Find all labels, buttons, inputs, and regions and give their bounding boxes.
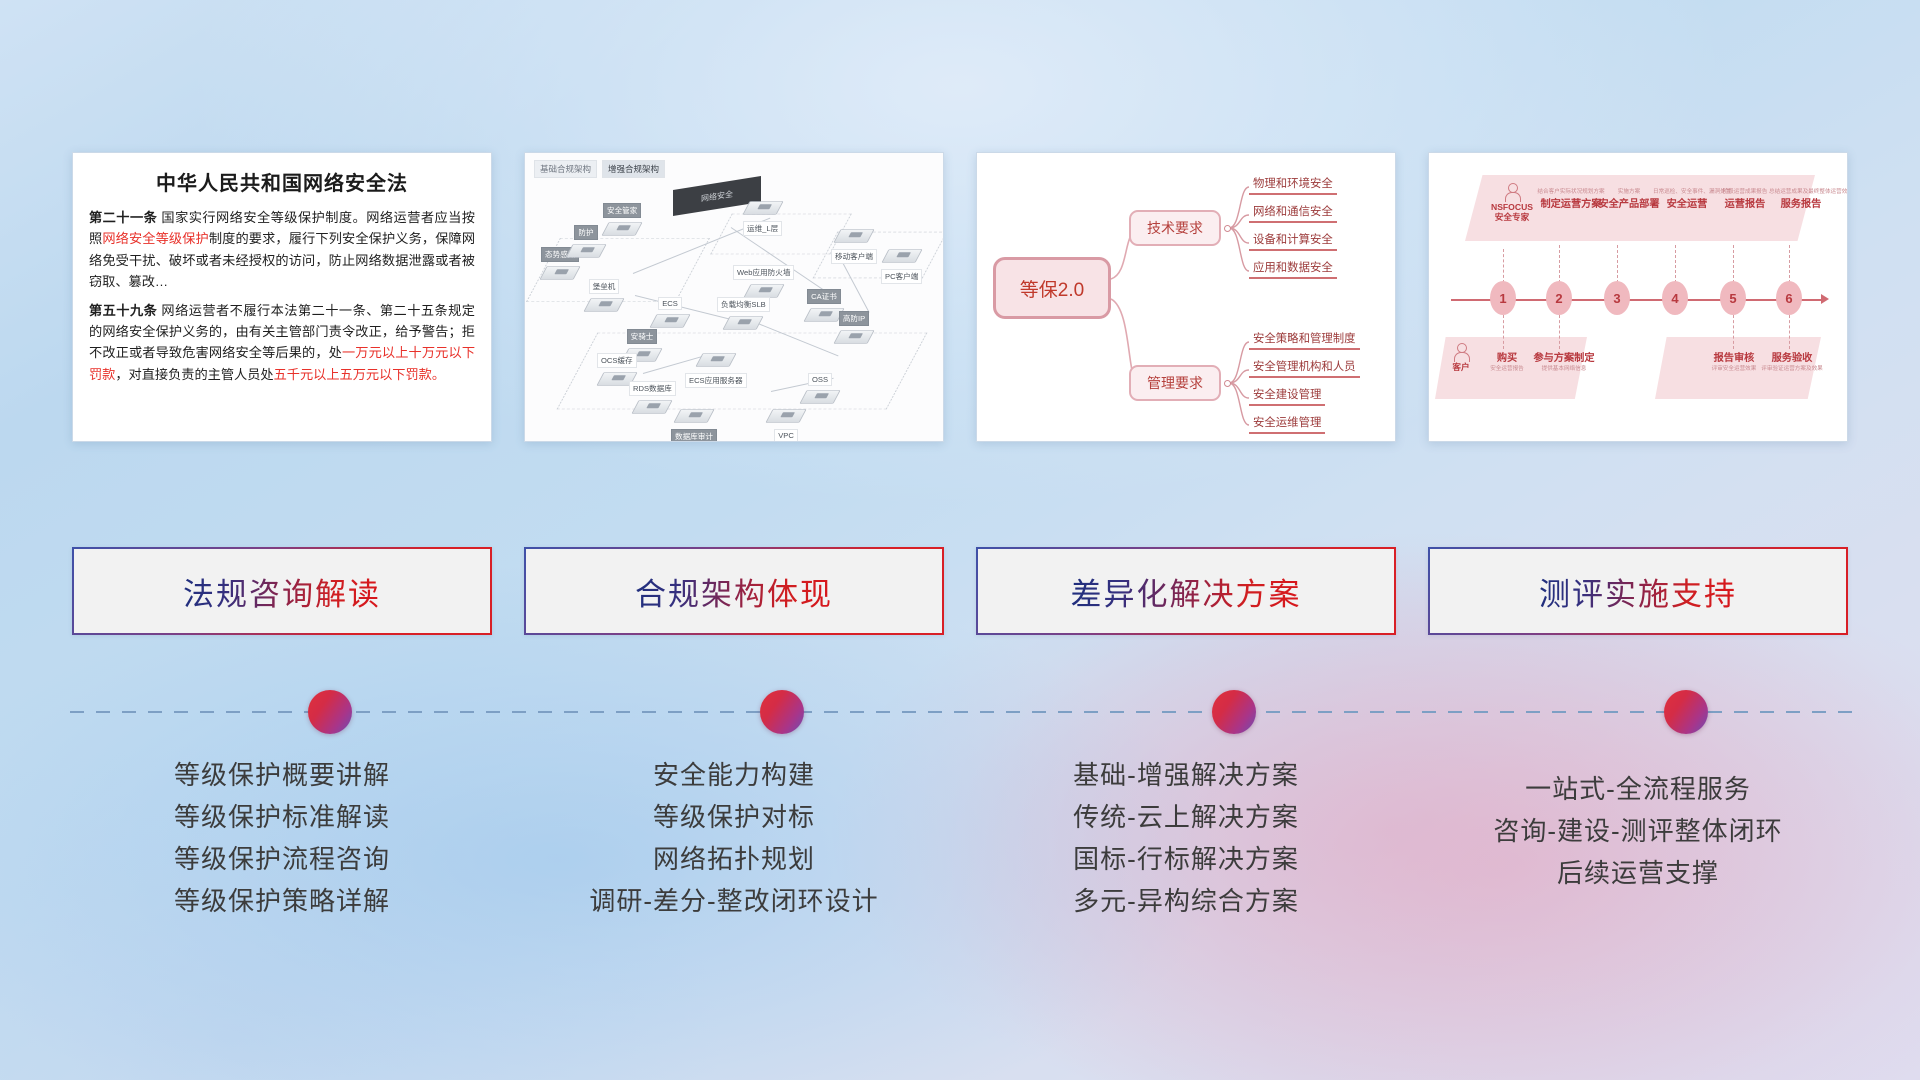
architecture-node-label: ECS (658, 297, 682, 310)
mindmap-collapse-icon-management[interactable] (1224, 380, 1231, 387)
step-subtitle: 评审安全运营效果 (1701, 364, 1767, 372)
customer-name: 客户 (1439, 363, 1483, 373)
architecture-node-label: 安全管家 (603, 203, 641, 218)
detail-column-1: 等级保护概要讲解 等级保护标准解读 等级保护流程咨询 等级保护策略详解 (72, 742, 492, 992)
timeline-connector (70, 690, 1856, 734)
architecture-tab-basic[interactable]: 基础合规架构 (534, 160, 597, 178)
architecture-node-label: Web应用防火墙 (733, 265, 794, 280)
provider-name-line2: 安全专家 (1479, 213, 1545, 223)
list-item: 安全能力构建 (653, 754, 815, 796)
server-icon (583, 298, 624, 312)
list-item: 一站式-全流程服务 (1525, 768, 1751, 810)
pillar-label: 法规咨询解读 (183, 569, 381, 614)
server-icon (540, 266, 581, 280)
architecture-node-label: 移动客户端 (831, 249, 877, 264)
architecture-node-vpc[interactable]: VPC (769, 405, 803, 442)
pillar-box-evaluation-support[interactable]: 测评实施支持 (1428, 547, 1848, 635)
architecture-node-pc-client[interactable]: PC客户端 (881, 245, 922, 284)
card-architecture-diagram[interactable]: 基础合规架构 增强合规架构 网络安全 态势感知 防护 安全管家 运维_ (524, 152, 944, 442)
detail-columns-row: 等级保护概要讲解 等级保护标准解读 等级保护流程咨询 等级保护策略详解 安全能力… (72, 742, 1854, 992)
timeline-dot-1[interactable] (308, 690, 352, 734)
card-law-document[interactable]: 中华人民共和国网络安全法 第二十一条 国家实行网络安全等级保护制度。网络运营者应… (72, 152, 492, 442)
timeline-step-node-1[interactable]: 1 (1490, 281, 1516, 315)
architecture-node-label: VPC (774, 429, 798, 442)
timeline-customer-step-4: 服务验收 评审验证运营方案及效果 (1759, 349, 1825, 372)
step-title: 报告审核 (1701, 349, 1767, 364)
timeline-dot-2[interactable] (760, 690, 804, 734)
architecture-node-bastion-host[interactable]: 堡垒机 (587, 277, 621, 316)
step-title: 服务验收 (1759, 349, 1825, 364)
architecture-node-ca-certificate[interactable]: CA证书 (807, 287, 841, 326)
timeline-customer-step-3: 报告审核 评审安全运营效果 (1701, 349, 1767, 372)
architecture-node-label: 负载均衡SLB (717, 297, 770, 312)
timeline-drop-5 (1733, 245, 1734, 283)
architecture-node-label: CA证书 (807, 289, 841, 304)
architecture-node-label: 防护 (574, 225, 597, 240)
law-paragraph-1: 第二十一条 国家实行网络安全等级保护制度。网络运营者应当按照网络安全等级保护制度… (89, 207, 475, 293)
timeline-arrow-icon (1821, 294, 1829, 304)
preview-cards-row: 中华人民共和国网络安全法 第二十一条 国家实行网络安全等级保护制度。网络运营者应… (72, 152, 1854, 442)
timeline-drop-9 (1733, 315, 1734, 349)
timeline-step-node-3[interactable]: 3 (1604, 281, 1630, 315)
step-title: 服务报告 (1769, 195, 1833, 210)
timeline-step-node-4[interactable]: 4 (1662, 281, 1688, 315)
mindmap-leaf-policy-system[interactable]: 安全策略和管理制度 (1249, 330, 1360, 350)
architecture-node-oss[interactable]: OSS (803, 371, 837, 408)
timeline-customer-step-1: 购买 安全运营报告 (1481, 349, 1533, 372)
mindmap-leaf-device-compute[interactable]: 设备和计算安全 (1249, 231, 1337, 251)
architecture-node-label: OCS缓存 (597, 353, 637, 368)
step-title: 购买 (1481, 349, 1533, 364)
mindmap-branch-technical[interactable]: 技术要求 (1129, 210, 1221, 246)
list-item: 调研-差分-整改闭环设计 (589, 880, 878, 922)
slide-canvas: 中华人民共和国网络安全法 第二十一条 国家实行网络安全等级保护制度。网络运营者应… (0, 0, 1920, 1080)
database-icon (632, 400, 673, 414)
law-paragraph-2: 第五十九条 网络运营者不履行本法第二十一条、第二十五条规定的网络安全保护义务的，… (89, 300, 475, 386)
list-item: 基础-增强解决方案 (1073, 754, 1299, 796)
list-item: 咨询-建设-测评整体闭环 (1493, 810, 1782, 852)
mindmap-leaf-app-data[interactable]: 应用和数据安全 (1249, 259, 1337, 279)
architecture-node-label: PC客户端 (881, 269, 922, 284)
list-item: 等级保护对标 (653, 796, 815, 838)
architecture-tab-enhanced[interactable]: 增强合规架构 (602, 160, 665, 178)
law-article-number-1: 第二十一条 (89, 210, 157, 225)
architecture-node-mobile-client[interactable]: 移动客户端 (831, 225, 877, 264)
mindmap-collapse-icon-technical[interactable] (1224, 225, 1231, 232)
step-subtitle: 安全运营报告 (1481, 364, 1533, 372)
architecture-node-label: RDS数据库 (629, 381, 676, 396)
shield-icon (833, 330, 874, 344)
mindmap-leaf-org-personnel[interactable]: 安全管理机构和人员 (1249, 358, 1360, 378)
mobile-icon (833, 229, 874, 243)
timeline-step-node-5[interactable]: 5 (1720, 281, 1746, 315)
mindmap-leaf-ops-mgmt[interactable]: 安全运维管理 (1249, 414, 1325, 434)
user-icon (742, 201, 783, 215)
architecture-stage: 网络安全 态势感知 防护 安全管家 运维_L层 移动客户端 PC客户端 堡垒机 … (525, 153, 943, 441)
card-service-timeline[interactable]: NSFOCUS 安全专家 结合客户实际状况规划方案 制定运营方案 实施方案 安全… (1428, 152, 1848, 442)
architecture-node-label: ECS应用服务器 (685, 373, 747, 388)
timeline-provider-step-4: 阶段运营成果报告 运营报告 (1713, 187, 1777, 210)
architecture-node-slb[interactable]: 负载均衡SLB (717, 295, 770, 334)
audit-icon (673, 409, 714, 423)
step-title: 安全运营 (1653, 195, 1721, 210)
detail-column-2: 安全能力构建 等级保护对标 网络拓扑规划 调研-差分-整改闭环设计 (524, 742, 944, 992)
law-highlight-1: 网络安全等级保护 (102, 231, 209, 246)
timeline-provider-step-5: 总结运营成果及最终整体运营效果 服务报告 (1769, 187, 1833, 210)
timeline-actor-provider: NSFOCUS 安全专家 (1479, 183, 1545, 223)
architecture-node-label: OSS (808, 373, 832, 386)
timeline-dot-4[interactable] (1664, 690, 1708, 734)
timeline-drop-7 (1503, 315, 1504, 349)
architecture-node-label: 安骑士 (627, 329, 658, 344)
step-subtitle: 日常巡检、安全事件、漏洞处置 (1653, 187, 1721, 195)
list-item: 网络拓扑规划 (653, 838, 815, 880)
timeline-drop-3 (1617, 245, 1618, 283)
architecture-node-label: 高防IP (839, 311, 869, 326)
timeline-drop-6 (1789, 245, 1790, 283)
timeline-drop-1 (1503, 249, 1504, 283)
list-item: 多元-异构综合方案 (1073, 880, 1299, 922)
card-mindmap[interactable]: 等保2.0 技术要求 物理和环境安全 网络和通信安全 设备和计算安全 应用和数据… (976, 152, 1396, 442)
timeline-drop-4 (1675, 245, 1676, 283)
list-item: 等级保护标准解读 (174, 796, 390, 838)
server-icon (649, 314, 690, 328)
architecture-node-ecs-app-server[interactable]: ECS应用服务器 (685, 349, 747, 388)
timeline-step-node-6[interactable]: 6 (1776, 281, 1802, 315)
timeline-drop-10 (1789, 315, 1790, 349)
step-title: 运营报告 (1713, 195, 1777, 210)
architecture-node-ops-layer[interactable]: 运维_L层 (743, 197, 782, 236)
mindmap-leaf-build-mgmt[interactable]: 安全建设管理 (1249, 386, 1325, 406)
step-subtitle: 评审验证运营方案及效果 (1759, 364, 1825, 372)
customer-person-icon (1453, 343, 1469, 361)
pillar-label: 测评实施支持 (1539, 569, 1737, 614)
pillar-label: 合规架构体现 (635, 569, 833, 614)
list-item: 等级保护策略详解 (174, 880, 390, 922)
pillar-labels-row: 法规咨询解读 合规架构体现 差异化解决方案 测评实施支持 (72, 547, 1854, 635)
server-icon (695, 353, 736, 367)
list-item: 等级保护概要讲解 (174, 754, 390, 796)
timeline-step-node-2[interactable]: 2 (1546, 281, 1572, 315)
timeline-provider-step-3: 日常巡检、安全事件、漏洞处置 安全运营 (1653, 187, 1721, 210)
mindmap-leaf-physical-env[interactable]: 物理和环境安全 (1249, 175, 1337, 195)
mindmap-leaf-network-comm[interactable]: 网络和通信安全 (1249, 203, 1337, 223)
architecture-tabs: 基础合规架构 增强合规架构 (534, 160, 665, 178)
architecture-node-anti-ddos-ip[interactable]: 高防IP (837, 309, 871, 348)
timeline-customer-step-2: 参与方案制定 提供基本网络信息 (1529, 349, 1599, 372)
law-title: 中华人民共和国网络安全法 (89, 167, 475, 196)
timeline-drop-8 (1559, 315, 1560, 349)
timeline-actor-customer: 客户 (1439, 343, 1483, 373)
storage-icon (799, 390, 840, 404)
step-title: 参与方案制定 (1529, 349, 1599, 364)
detail-column-3: 基础-增强解决方案 传统-云上解决方案 国标-行标解决方案 多元-异构综合方案 (976, 742, 1396, 992)
pillar-label: 差异化解决方案 (1071, 569, 1302, 614)
server-icon (565, 244, 606, 258)
timeline-drop-2 (1559, 245, 1560, 283)
architecture-node-label: 数据库审计 (671, 429, 717, 442)
list-item: 国标-行标解决方案 (1073, 838, 1299, 880)
list-item: 传统-云上解决方案 (1073, 796, 1299, 838)
step-subtitle: 总结运营成果及最终整体运营效果 (1769, 187, 1833, 195)
architecture-node-rds-database[interactable]: RDS数据库 (629, 379, 676, 418)
network-icon (765, 409, 806, 423)
expert-person-icon (1504, 183, 1520, 201)
architecture-node-label: 堡垒机 (589, 279, 620, 294)
architecture-node-label: 运维_L层 (743, 221, 782, 236)
mindmap-root-node[interactable]: 等保2.0 (993, 257, 1111, 319)
timeline-dot-3[interactable] (1212, 690, 1256, 734)
list-item: 后续运营支撑 (1557, 852, 1719, 894)
list-item: 等级保护流程咨询 (174, 838, 390, 880)
load-balancer-icon (723, 316, 764, 330)
architecture-node-protection[interactable]: 防护 (569, 223, 603, 262)
law-highlight-2b: 五千元以上五万元以下罚款。 (274, 367, 445, 382)
pillar-box-compliance-architecture[interactable]: 合规架构体现 (524, 547, 944, 635)
pillar-box-regulation-consulting[interactable]: 法规咨询解读 (72, 547, 492, 635)
step-subtitle: 提供基本网络信息 (1529, 364, 1599, 372)
law-article-number-2: 第五十九条 (89, 303, 157, 318)
architecture-node-db-audit[interactable]: 数据库审计 (671, 405, 717, 442)
architecture-node-security-butler[interactable]: 安全管家 (603, 201, 641, 240)
desktop-icon (881, 249, 922, 263)
pillar-box-differentiated-solution[interactable]: 差异化解决方案 (976, 547, 1396, 635)
law-text-2b: ，对直接负责的主管人员处 (115, 367, 273, 382)
step-subtitle: 阶段运营成果报告 (1713, 187, 1777, 195)
detail-column-4: 一站式-全流程服务 咨询-建设-测评整体闭环 后续运营支撑 (1428, 742, 1848, 992)
server-icon (602, 222, 643, 236)
mindmap-branch-management[interactable]: 管理要求 (1129, 365, 1221, 401)
